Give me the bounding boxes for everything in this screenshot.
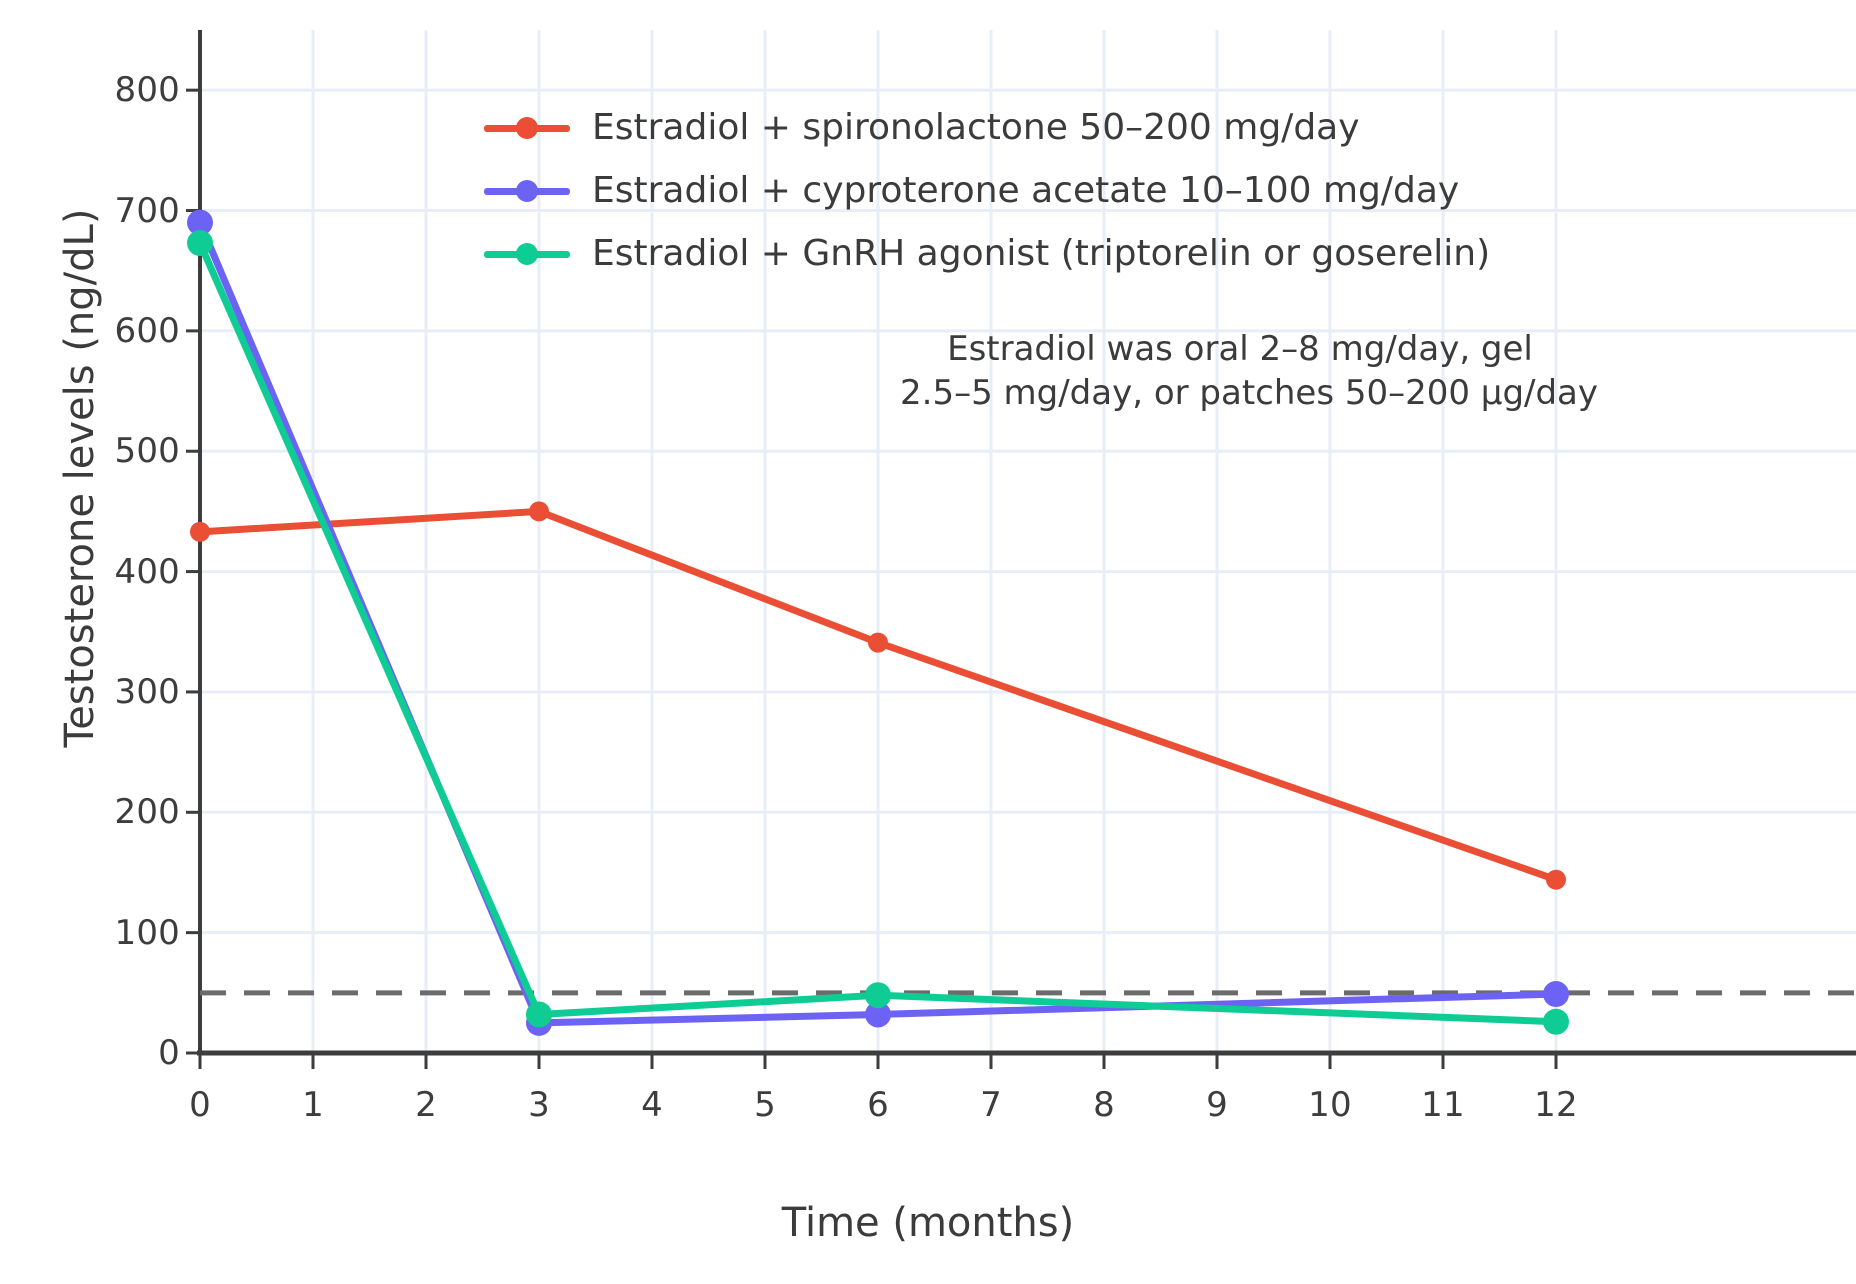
x-tick-label: 9 <box>1206 1085 1228 1125</box>
x-tick-label: 10 <box>1308 1085 1352 1125</box>
legend-label-spironolactone: Estradiol + spironolactone 50–200 mg/day <box>592 110 1360 146</box>
data-point <box>1543 1009 1569 1035</box>
data-point <box>529 501 549 521</box>
x-tick-label: 3 <box>528 1085 550 1125</box>
x-tick-label: 8 <box>1093 1085 1115 1125</box>
legend-item-gnrh[interactable]: Estradiol + GnRH agonist (triptorelin or… <box>484 231 1490 277</box>
data-point <box>190 522 210 542</box>
annotation-line-2: 2.5–5 mg/day, or patches 50–200 µg/day <box>900 372 1580 416</box>
data-point <box>1543 981 1569 1007</box>
legend-label-gnrh: Estradiol + GnRH agonist (triptorelin or… <box>592 236 1490 272</box>
chart-legend: Estradiol + spironolactone 50–200 mg/day… <box>484 105 1490 277</box>
annotation-line-1: Estradiol was oral 2–8 mg/day, gel <box>900 328 1580 372</box>
x-tick-label: 5 <box>754 1085 776 1125</box>
legend-line-marker-icon <box>484 113 570 143</box>
legend-dot-blue <box>516 180 538 202</box>
data-point <box>865 982 891 1008</box>
data-point <box>187 230 213 256</box>
legend-item-spironolactone[interactable]: Estradiol + spironolactone 50–200 mg/day <box>484 105 1490 151</box>
data-point <box>526 1001 552 1027</box>
x-tick-label: 11 <box>1421 1085 1465 1125</box>
y-tick-label: 100 <box>20 913 180 953</box>
x-tick-label: 0 <box>189 1085 211 1125</box>
data-point <box>1546 870 1566 890</box>
x-tick-label: 12 <box>1534 1085 1578 1125</box>
x-tick-label: 7 <box>980 1085 1002 1125</box>
x-tick-label: 6 <box>867 1085 889 1125</box>
x-tick-label: 2 <box>415 1085 437 1125</box>
y-tick-label: 0 <box>20 1033 180 1073</box>
legend-line-marker-icon <box>484 176 570 206</box>
legend-dot-red <box>516 117 538 139</box>
y-tick-label: 200 <box>20 792 180 832</box>
x-tick-label: 4 <box>641 1085 663 1125</box>
x-axis-title: Time (months) <box>0 1200 1856 1246</box>
legend-line-marker-icon <box>484 239 570 269</box>
x-tick-label: 1 <box>302 1085 324 1125</box>
data-point <box>868 633 888 653</box>
legend-label-cyproterone: Estradiol + cyproterone acetate 10–100 m… <box>592 173 1459 209</box>
legend-dot-green <box>516 243 538 265</box>
y-axis-title: Testosterone levels (ng/dL) <box>57 168 103 788</box>
y-tick-label: 800 <box>20 70 180 110</box>
legend-item-cyproterone[interactable]: Estradiol + cyproterone acetate 10–100 m… <box>484 168 1490 214</box>
estradiol-dose-annotation: Estradiol was oral 2–8 mg/day, gel 2.5–5… <box>900 328 1580 415</box>
chart-figure: 0100200300400500600700800 01234567891011… <box>0 0 1856 1284</box>
